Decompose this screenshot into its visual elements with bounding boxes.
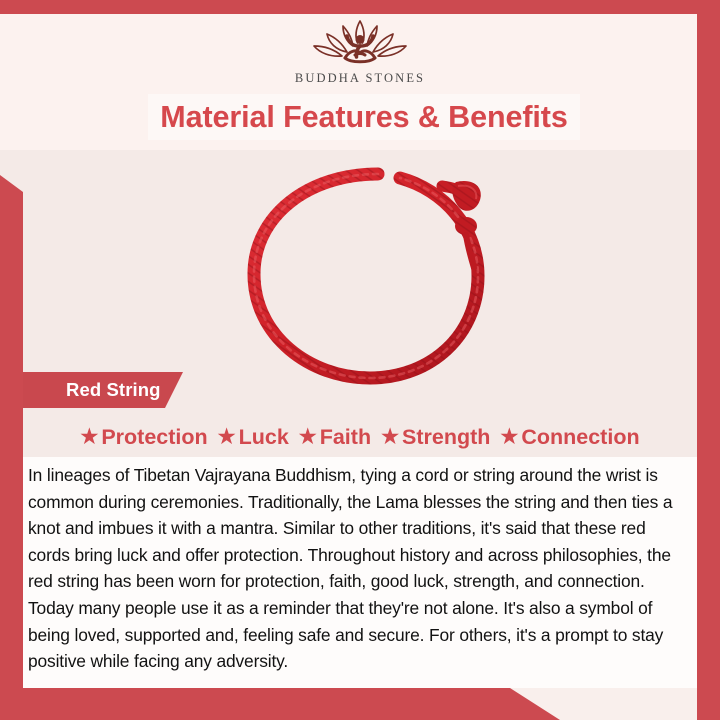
star-icon: ★ [218,427,236,447]
feature-item-protection: ★ Protection [80,425,207,450]
star-icon: ★ [80,427,98,447]
feature-label: Faith [320,425,371,450]
frame-border-bottom [0,688,560,720]
star-icon: ★ [299,427,317,447]
page-title: Material Features & Benefits [148,94,580,140]
brand-name: BUDDHA STONES [0,71,720,86]
red-braided-string-bracelet [228,152,500,396]
description-panel: In lineages of Tibetan Vajrayana Buddhis… [23,457,697,688]
poster-canvas: BUDDHA STONES Material Features & Benefi… [0,0,720,720]
product-tag-label: Red String [66,379,161,401]
page-title-text: Material Features & Benefits [160,100,567,135]
star-icon: ★ [500,427,518,447]
feature-list: ★ Protection ★ Luck ★ Faith ★ Strength ★… [23,419,697,455]
feature-item-connection: ★ Connection [500,425,639,450]
lotus-meditation-icon [307,18,413,68]
feature-label: Connection [521,425,639,450]
description-text: In lineages of Tibetan Vajrayana Buddhis… [28,462,685,675]
frame-border-left [0,172,23,720]
feature-item-strength: ★ Strength [381,425,490,450]
feature-item-faith: ★ Faith [299,425,371,450]
brand-logo: BUDDHA STONES [0,18,720,86]
product-tag-banner: Red String [23,372,183,408]
feature-label: Protection [101,425,207,450]
feature-label: Luck [239,425,289,450]
feature-label: Strength [402,425,490,450]
star-icon: ★ [381,427,399,447]
frame-border-right [697,0,720,720]
frame-border-top [0,0,720,14]
feature-item-luck: ★ Luck [218,425,289,450]
